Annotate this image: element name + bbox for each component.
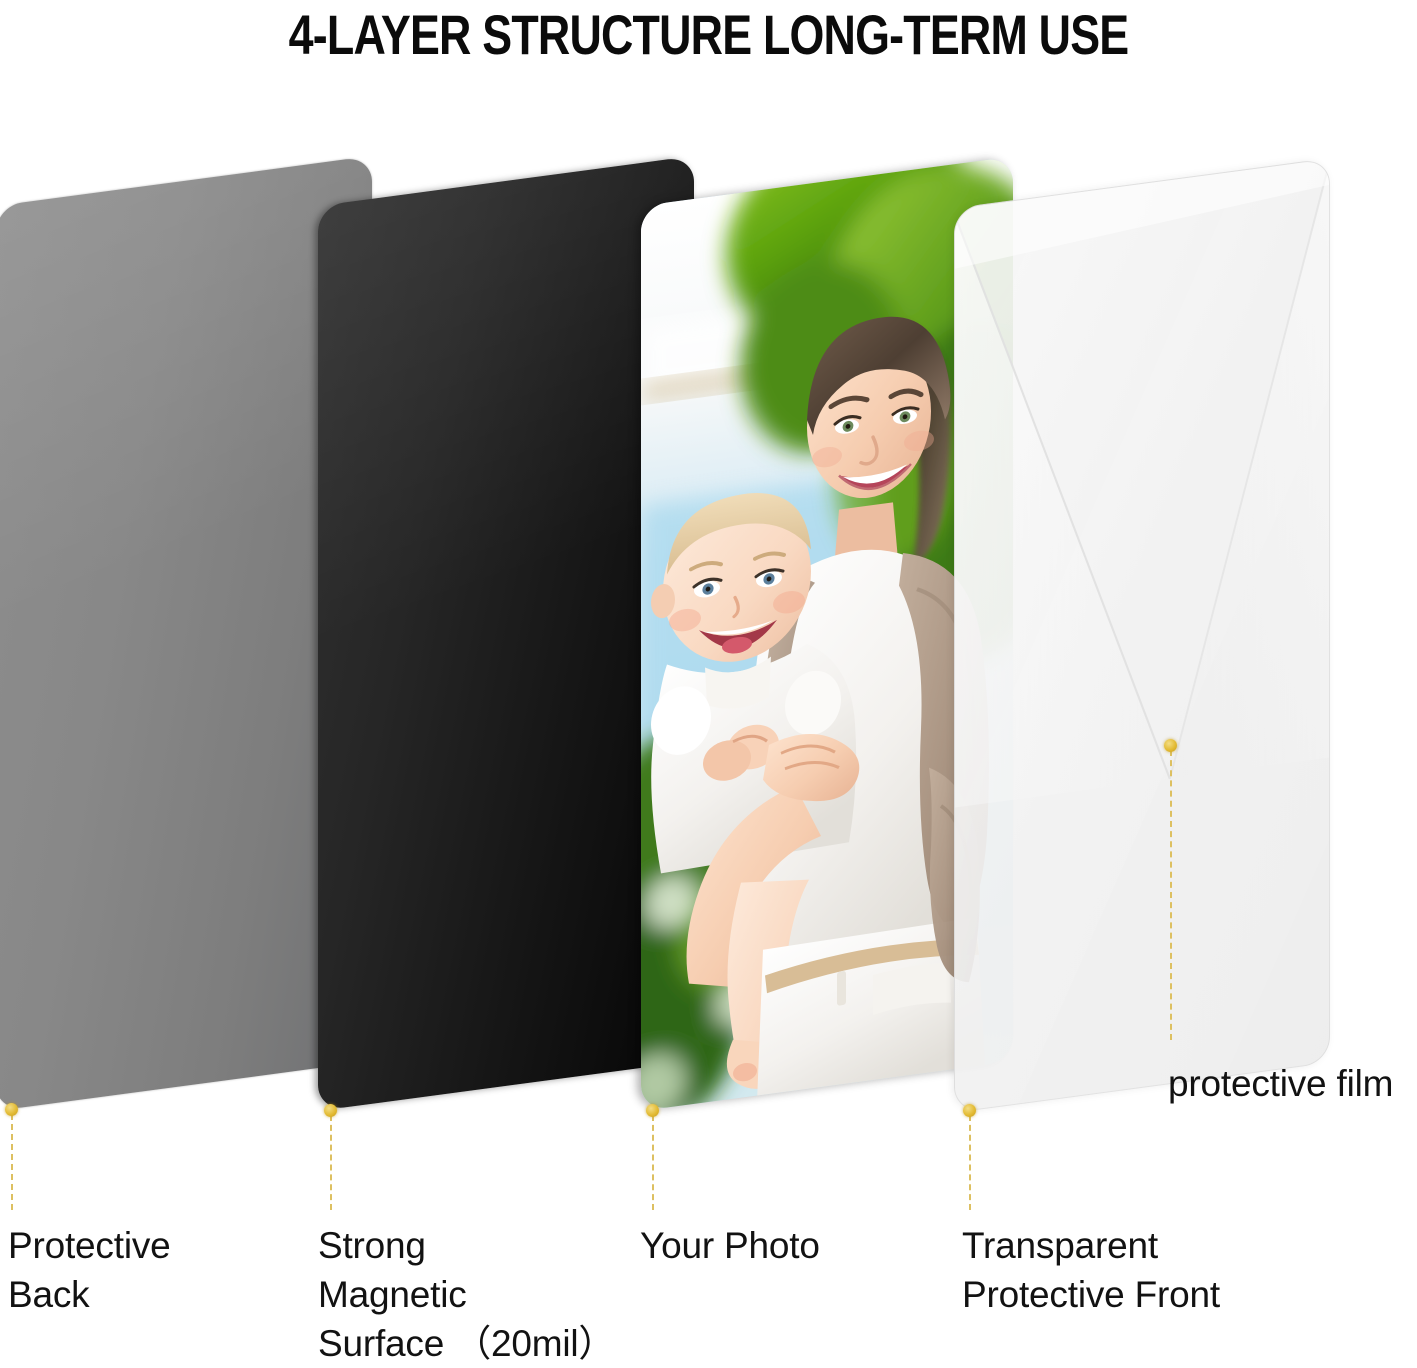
film-peel-fold [955, 159, 1329, 1112]
layer-transparent-front [954, 158, 1330, 1113]
page-title: 4-LAYER STRUCTURE LONG-TERM USE [142, 2, 1276, 67]
infographic-canvas: 4-LAYER STRUCTURE LONG-TERM USE [0, 0, 1417, 1350]
marker-transparent-front [963, 1104, 976, 1117]
layer-protective-back [0, 156, 372, 1111]
leader-your-photo [652, 1115, 654, 1210]
marker-your-photo [646, 1104, 659, 1117]
layer-label-transparent-front: Transparent Protective Front [962, 1222, 1322, 1320]
layer-label-magnetic-surface: Strong Magnetic Surface （20mil） [318, 1222, 638, 1368]
leader-transparent-front [969, 1115, 971, 1210]
layer-magnetic-surface [318, 156, 694, 1111]
marker-protective-film [1164, 739, 1177, 752]
marker-protective-back [5, 1103, 18, 1116]
leader-protective-film [1170, 750, 1172, 1040]
magnetic-surface-face [318, 156, 694, 1111]
protective-back-face [0, 156, 372, 1111]
leader-protective-back [11, 1114, 13, 1210]
layer-label-protective-back: Protective Back [8, 1222, 298, 1320]
leader-magnetic-surface [330, 1115, 332, 1210]
layer-label-your-photo: Your Photo [640, 1222, 940, 1271]
marker-magnetic-surface [324, 1104, 337, 1117]
transparent-front-face [954, 158, 1330, 1113]
callout-label-protective-film: protective film [1168, 1060, 1393, 1108]
